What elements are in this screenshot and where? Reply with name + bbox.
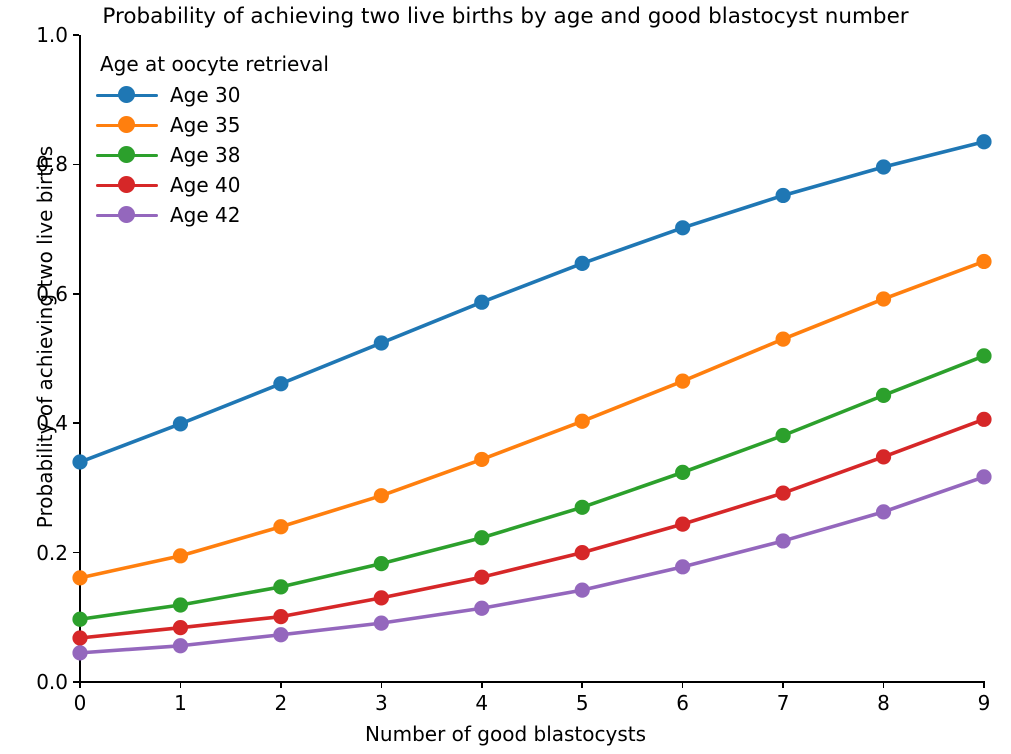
legend-item-age-42[interactable]: Age 42 — [96, 200, 329, 230]
x-axis-label: Number of good blastocysts — [0, 722, 1011, 746]
data-point — [675, 559, 690, 574]
legend-marker-icon — [96, 204, 158, 226]
x-tick-label: 5 — [562, 691, 602, 715]
data-point — [976, 348, 991, 363]
data-point — [374, 590, 389, 605]
data-point — [173, 620, 188, 635]
x-tick-label: 3 — [361, 691, 401, 715]
x-tick-label: 2 — [261, 691, 301, 715]
x-tick-label: 1 — [160, 691, 200, 715]
y-tick-mark — [73, 552, 79, 554]
data-point — [72, 454, 87, 469]
chart-title: Probability of achieving two live births… — [0, 4, 1011, 29]
data-point — [876, 504, 891, 519]
legend-label: Age 40 — [170, 173, 241, 197]
x-tick-mark — [180, 682, 182, 688]
x-tick-mark — [280, 682, 282, 688]
series-line — [80, 356, 984, 619]
data-point — [474, 601, 489, 616]
legend-label: Age 38 — [170, 143, 241, 167]
y-tick-mark — [73, 681, 79, 683]
x-tick-label: 7 — [763, 691, 803, 715]
series-line — [80, 261, 984, 577]
x-tick-mark — [79, 682, 81, 688]
data-point — [273, 627, 288, 642]
chart-figure: Probability of achieving two live births… — [0, 0, 1011, 754]
y-tick-mark — [73, 293, 79, 295]
data-point — [776, 331, 791, 346]
data-point — [474, 452, 489, 467]
data-point — [675, 220, 690, 235]
x-tick-label: 0 — [60, 691, 100, 715]
legend-marker-icon — [96, 114, 158, 136]
data-point — [976, 134, 991, 149]
series-age-40 — [72, 412, 991, 646]
data-point — [72, 630, 87, 645]
data-point — [675, 374, 690, 389]
data-point — [72, 645, 87, 660]
data-point — [575, 256, 590, 271]
x-tick-mark — [983, 682, 985, 688]
data-point — [575, 414, 590, 429]
legend-label: Age 35 — [170, 113, 241, 137]
y-tick-label: 1.0 — [0, 23, 68, 47]
y-tick-mark — [73, 164, 79, 166]
data-point — [173, 416, 188, 431]
data-point — [474, 570, 489, 585]
data-point — [876, 388, 891, 403]
data-point — [374, 556, 389, 571]
data-point — [776, 428, 791, 443]
data-point — [273, 579, 288, 594]
x-tick-label: 6 — [663, 691, 703, 715]
data-point — [876, 159, 891, 174]
y-tick-mark — [73, 34, 79, 36]
x-tick-mark — [481, 682, 483, 688]
data-point — [776, 485, 791, 500]
data-point — [273, 519, 288, 534]
y-axis-label: Probability of achieving two live births — [33, 57, 57, 617]
data-point — [575, 500, 590, 515]
x-tick-mark — [883, 682, 885, 688]
legend-item-age-38[interactable]: Age 38 — [96, 140, 329, 170]
legend-item-age-30[interactable]: Age 30 — [96, 80, 329, 110]
x-tick-mark — [782, 682, 784, 688]
data-point — [374, 488, 389, 503]
y-tick-label: 0.0 — [0, 670, 68, 694]
data-point — [776, 533, 791, 548]
data-point — [776, 188, 791, 203]
x-tick-mark — [581, 682, 583, 688]
legend-label: Age 30 — [170, 83, 241, 107]
data-point — [976, 254, 991, 269]
series-age-35 — [72, 254, 991, 586]
data-point — [474, 295, 489, 310]
legend: Age at oocyte retrieval Age 30Age 35Age … — [96, 52, 329, 230]
data-point — [675, 517, 690, 532]
data-point — [876, 291, 891, 306]
x-tick-label: 8 — [864, 691, 904, 715]
data-point — [876, 449, 891, 464]
data-point — [575, 545, 590, 560]
series-age-38 — [72, 348, 991, 627]
legend-item-age-40[interactable]: Age 40 — [96, 170, 329, 200]
legend-marker-icon — [96, 84, 158, 106]
data-point — [173, 597, 188, 612]
data-point — [173, 638, 188, 653]
data-point — [374, 335, 389, 350]
data-point — [273, 376, 288, 391]
data-point — [273, 609, 288, 624]
x-tick-mark — [682, 682, 684, 688]
series-line — [80, 419, 984, 638]
legend-marker-icon — [96, 144, 158, 166]
x-tick-label: 4 — [462, 691, 502, 715]
legend-marker-icon — [96, 174, 158, 196]
legend-title: Age at oocyte retrieval — [96, 52, 329, 76]
x-tick-label: 9 — [964, 691, 1004, 715]
data-point — [474, 530, 489, 545]
legend-entries: Age 30Age 35Age 38Age 40Age 42 — [96, 80, 329, 230]
data-point — [173, 548, 188, 563]
x-tick-mark — [381, 682, 383, 688]
data-point — [374, 616, 389, 631]
data-point — [575, 583, 590, 598]
data-point — [976, 412, 991, 427]
data-point — [72, 570, 87, 585]
data-point — [72, 612, 87, 627]
data-point — [976, 469, 991, 484]
legend-item-age-35[interactable]: Age 35 — [96, 110, 329, 140]
data-point — [675, 465, 690, 480]
y-tick-mark — [73, 422, 79, 424]
legend-label: Age 42 — [170, 203, 241, 227]
